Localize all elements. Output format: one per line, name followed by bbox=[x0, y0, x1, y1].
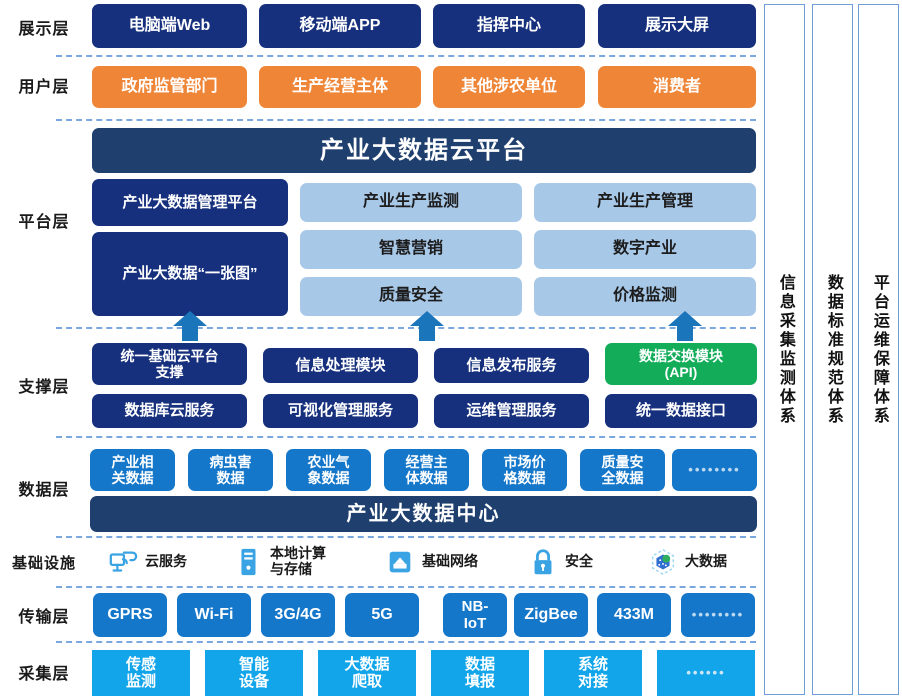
support-ops-management-service[interactable]: 运维管理服务 bbox=[434, 394, 589, 428]
support-info-publishing-service[interactable]: 信息发布服务 bbox=[434, 348, 589, 383]
transport-item-5g[interactable]: 5G bbox=[345, 593, 419, 637]
separator-display-user bbox=[56, 55, 756, 57]
side-column-label-3: 平台运维保障体系 bbox=[870, 274, 887, 426]
big-data-icon bbox=[648, 547, 678, 577]
support-unified-data-interface[interactable]: 统一数据接口 bbox=[605, 394, 757, 428]
infra-item-basic-network[interactable]: 基础网络 bbox=[385, 542, 478, 582]
side-column-label-2: 数据标准规范体系 bbox=[824, 274, 841, 426]
layer-label-user-text: 用户层 bbox=[18, 73, 69, 97]
support-info-processing-module[interactable]: 信息处理模块 bbox=[263, 348, 418, 383]
data-item-industry-related[interactable]: 产业相 关数据 bbox=[90, 449, 175, 491]
support-data-exchange-module-api[interactable]: 数据交换模块 (API) bbox=[605, 343, 757, 385]
lock-icon bbox=[528, 547, 558, 577]
support-database-cloud-service[interactable]: 数据库云服务 bbox=[92, 394, 247, 428]
display-item-mobile-app[interactable]: 移动端APP bbox=[259, 4, 421, 48]
data-item-market-price[interactable]: 市场价 格数据 bbox=[482, 449, 567, 491]
infra-label-big-data: 大数据 bbox=[685, 554, 727, 570]
architecture-diagram: 展示层 用户层 平台层 支撑层 数据层 基础设施 传输层 采集层 电脑端Web … bbox=[0, 0, 902, 699]
infra-label-local-compute-storage: 本地计算 与存储 bbox=[270, 546, 326, 577]
collection-item-data-reporting[interactable]: 数据 填报 bbox=[431, 650, 529, 696]
collection-item-sensor-monitoring[interactable]: 传感 监测 bbox=[92, 650, 190, 696]
layer-label-support: 支撑层 bbox=[0, 340, 88, 430]
network-icon bbox=[385, 547, 415, 577]
platform-right-production-management[interactable]: 产业生产管理 bbox=[534, 183, 756, 222]
layer-label-infrastructure: 基础设施 bbox=[0, 540, 88, 584]
transport-item-433m[interactable]: 433M bbox=[597, 593, 671, 637]
platform-left-one-map[interactable]: 产业大数据“一张图” bbox=[92, 232, 288, 316]
data-center-banner: 产业大数据中心 bbox=[90, 496, 757, 532]
separator-user-platform bbox=[56, 119, 756, 121]
layer-label-collection: 采集层 bbox=[0, 648, 88, 696]
separator-infrastructure-transport bbox=[56, 586, 756, 588]
user-item-production-entity[interactable]: 生产经营主体 bbox=[259, 66, 421, 108]
user-item-other-agri-unit[interactable]: 其他涉农单位 bbox=[433, 66, 585, 108]
collection-item-more[interactable]: •••••• bbox=[657, 650, 755, 696]
data-item-agri-meteorology[interactable]: 农业气 象数据 bbox=[286, 449, 371, 491]
side-column-platform-ops-assurance[interactable]: 平台运维保障体系 bbox=[858, 4, 899, 695]
platform-banner: 产业大数据云平台 bbox=[92, 128, 756, 173]
collection-item-smart-device[interactable]: 智能 设备 bbox=[205, 650, 303, 696]
infra-label-cloud-service: 云服务 bbox=[145, 554, 187, 570]
separator-support-data bbox=[56, 436, 756, 438]
infra-item-cloud-service[interactable]: 云服务 bbox=[108, 542, 187, 582]
user-item-government-regulator[interactable]: 政府监管部门 bbox=[92, 66, 247, 108]
platform-right-digital-industry[interactable]: 数字产业 bbox=[534, 230, 756, 269]
platform-left-management[interactable]: 产业大数据管理平台 bbox=[92, 179, 288, 226]
support-visual-management-service[interactable]: 可视化管理服务 bbox=[263, 394, 418, 428]
platform-mid-smart-marketing[interactable]: 智慧营销 bbox=[300, 230, 522, 269]
infra-item-security[interactable]: 安全 bbox=[528, 542, 593, 582]
platform-right-price-monitoring[interactable]: 价格监测 bbox=[534, 277, 756, 316]
transport-item-gprs[interactable]: GPRS bbox=[93, 593, 167, 637]
transport-item-nbiot[interactable]: NB- IoT bbox=[443, 593, 507, 637]
layer-label-platform: 平台层 bbox=[0, 125, 88, 315]
side-column-data-standard-specification[interactable]: 数据标准规范体系 bbox=[812, 4, 853, 695]
separator-transport-collection bbox=[56, 641, 756, 643]
up-arrow-icon-1 bbox=[173, 311, 207, 341]
layer-label-user: 用户层 bbox=[0, 62, 88, 108]
data-item-more[interactable]: •••••••• bbox=[672, 449, 757, 491]
layer-label-display-text: 展示层 bbox=[18, 15, 69, 39]
layer-label-transport: 传输层 bbox=[0, 592, 88, 638]
side-column-label-1: 信息采集监测体系 bbox=[776, 274, 793, 426]
separator-data-infrastructure bbox=[56, 536, 756, 538]
layer-label-support-text: 支撑层 bbox=[18, 373, 69, 397]
layer-label-data-text: 数据层 bbox=[18, 476, 69, 500]
layer-label-collection-text: 采集层 bbox=[18, 660, 69, 684]
infra-label-security: 安全 bbox=[565, 554, 593, 570]
layer-label-display: 展示层 bbox=[0, 4, 88, 50]
transport-item-more[interactable]: •••••••• bbox=[681, 593, 755, 637]
collection-item-bigdata-crawl[interactable]: 大数据 爬取 bbox=[318, 650, 416, 696]
up-arrow-icon-2 bbox=[410, 311, 444, 341]
data-item-quality-safety[interactable]: 质量安 全数据 bbox=[580, 449, 665, 491]
up-arrow-icon-3 bbox=[668, 311, 702, 341]
layer-label-transport-text: 传输层 bbox=[18, 603, 69, 627]
side-column-info-collection-monitoring[interactable]: 信息采集监测体系 bbox=[764, 4, 805, 695]
display-item-pc-web[interactable]: 电脑端Web bbox=[92, 4, 247, 48]
transport-item-3g4g[interactable]: 3G/4G bbox=[261, 593, 335, 637]
platform-mid-production-monitoring[interactable]: 产业生产监测 bbox=[300, 183, 522, 222]
separator-platform-support bbox=[56, 327, 756, 329]
transport-item-zigbee[interactable]: ZigBee bbox=[514, 593, 588, 637]
layer-label-data: 数据层 bbox=[0, 445, 88, 530]
layer-label-infrastructure-text: 基础设施 bbox=[12, 552, 76, 573]
data-item-business-entity[interactable]: 经营主 体数据 bbox=[384, 449, 469, 491]
data-item-pest-disease[interactable]: 病虫害 数据 bbox=[188, 449, 273, 491]
server-storage-icon bbox=[233, 547, 263, 577]
cloud-service-icon bbox=[108, 547, 138, 577]
display-item-large-screen[interactable]: 展示大屏 bbox=[598, 4, 756, 48]
display-item-command-center[interactable]: 指挥中心 bbox=[433, 4, 585, 48]
infra-item-big-data[interactable]: 大数据 bbox=[648, 542, 727, 582]
infra-item-local-compute-storage[interactable]: 本地计算 与存储 bbox=[233, 542, 326, 582]
collection-item-system-integration[interactable]: 系统 对接 bbox=[544, 650, 642, 696]
infra-label-basic-network: 基础网络 bbox=[422, 554, 478, 570]
user-item-consumer[interactable]: 消费者 bbox=[598, 66, 756, 108]
layer-label-platform-text: 平台层 bbox=[18, 208, 69, 232]
transport-item-wifi[interactable]: Wi-Fi bbox=[177, 593, 251, 637]
support-unified-cloud-platform[interactable]: 统一基础云平台 支撑 bbox=[92, 343, 247, 385]
